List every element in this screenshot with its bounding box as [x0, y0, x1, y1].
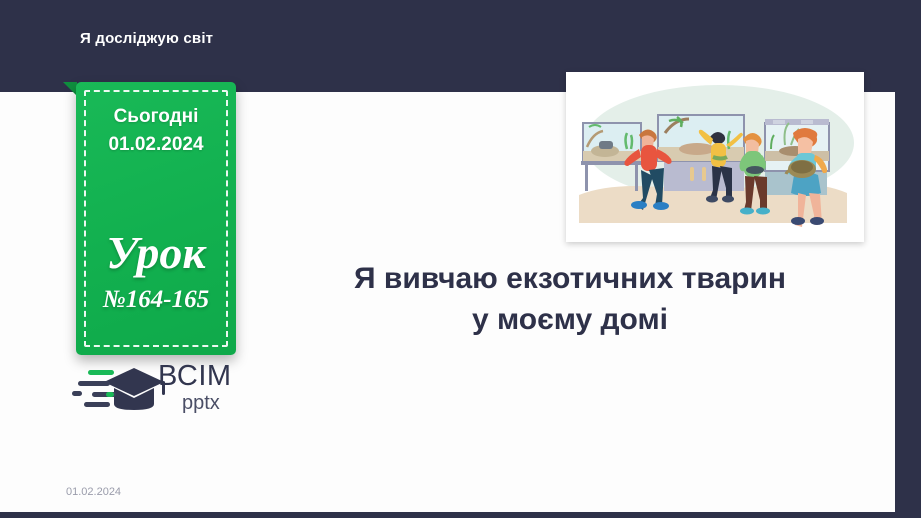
page-title: Я вивчаю екзотичних тварин у моєму домі [296, 258, 844, 341]
lesson-number: №164-165 [76, 286, 236, 314]
illustration-frame [566, 72, 864, 242]
brand-text: ВСІМ pptx [158, 362, 258, 413]
terrarium-center [658, 115, 744, 161]
main-title-line-2: у моєму домі [296, 299, 844, 340]
lesson-word: Урок [76, 230, 236, 276]
header-title: Я досліджую світ [80, 30, 213, 47]
main-title-line-1: Я вивчаю екзотичних тварин [296, 258, 844, 299]
today-label: Сьогодні [76, 106, 236, 128]
brand-sub: pptx [182, 393, 258, 413]
card-fold-corner [63, 82, 77, 96]
brand-name: ВСІМ [158, 362, 258, 391]
today-date: 01.02.2024 [76, 134, 236, 156]
footer-date: 01.02.2024 [66, 486, 121, 498]
speed-lines-icon [72, 370, 116, 407]
lesson-card: Сьогодні 01.02.2024 Урок №164-165 [76, 82, 236, 355]
classroom-terrarium-illustration [569, 75, 855, 233]
slide-canvas: Я досліджую світ Сьогодні 01.02.2024 Уро… [0, 0, 921, 518]
